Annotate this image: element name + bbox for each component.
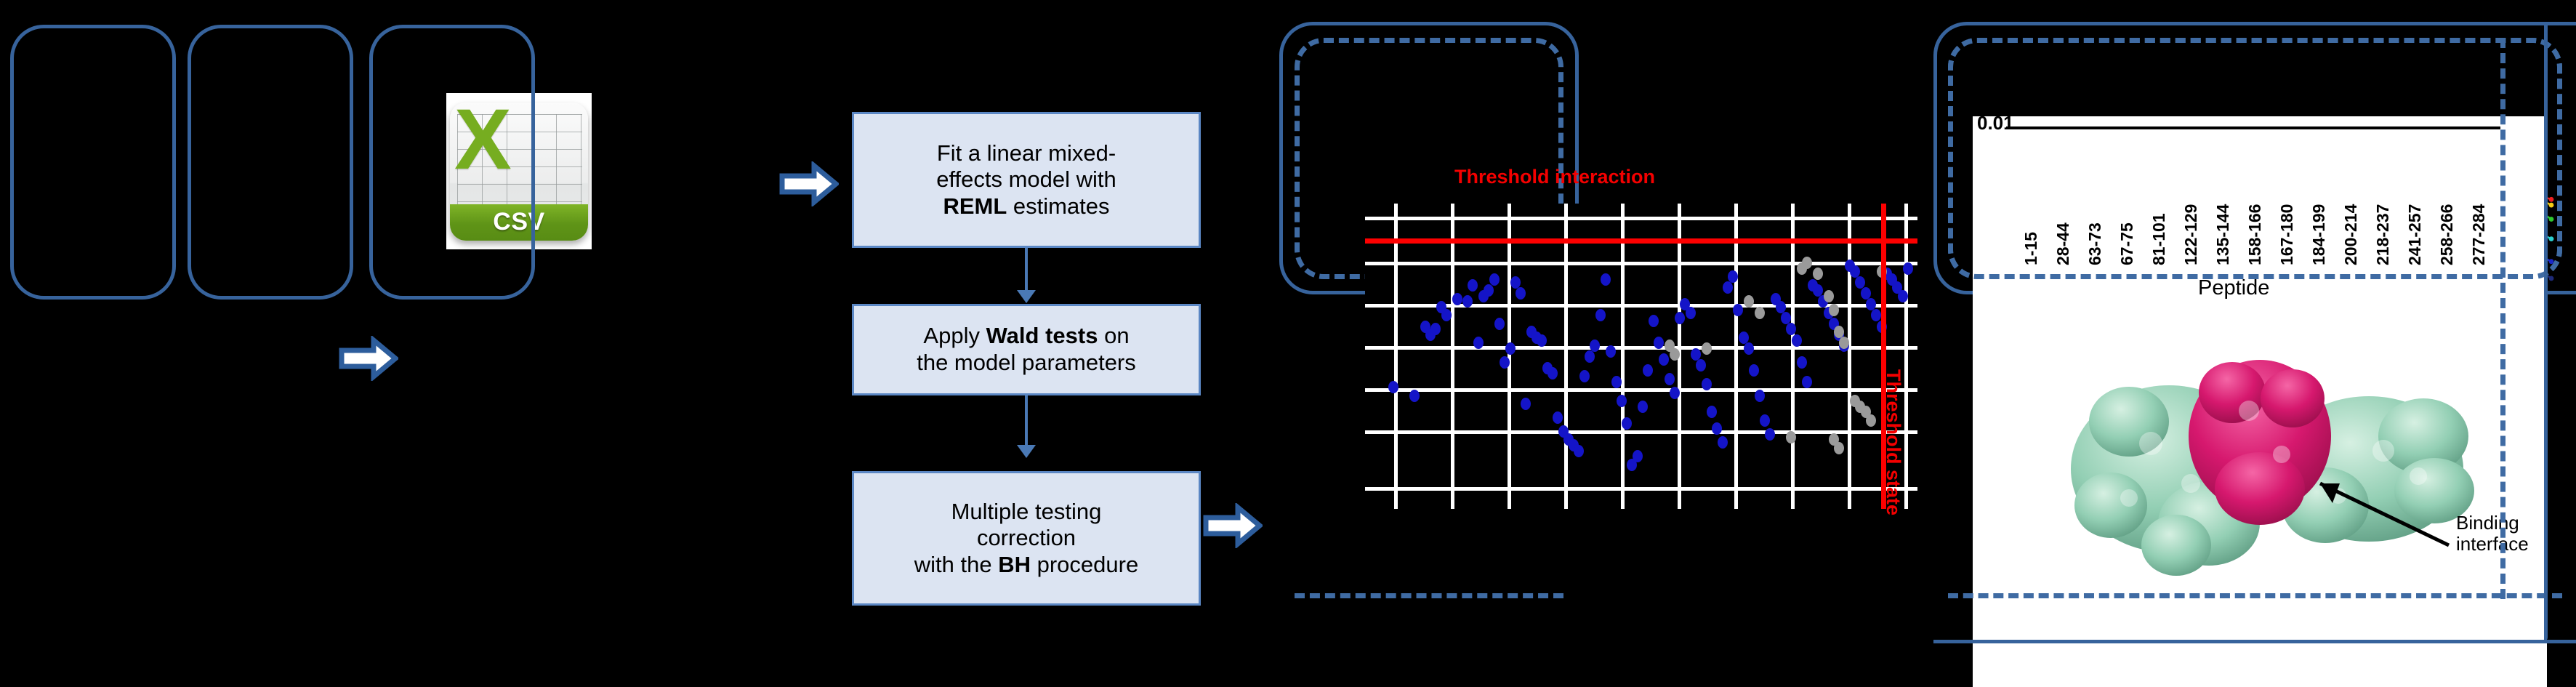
x-axis-tick <box>2143 129 2144 140</box>
x-axis-tick <box>2303 129 2304 140</box>
x-axis-tick <box>2239 129 2240 140</box>
gridline-v <box>1394 204 1398 509</box>
x-axis-tick <box>2399 129 2400 140</box>
x-axis-tick-label: 122-129 <box>2181 204 2201 265</box>
gridline-h <box>1365 346 1917 350</box>
scatter-point <box>1755 307 1765 319</box>
scatter-point <box>1792 334 1802 347</box>
scatter-point <box>1452 293 1462 305</box>
x-axis-tick-label: 28-44 <box>2053 222 2073 265</box>
peptide-panel-dashed-right <box>2500 38 2505 599</box>
scatter-point <box>1871 309 1881 321</box>
input-panel <box>10 25 176 300</box>
step-wald-text: Apply Wald tests onthe model parameters <box>917 323 1136 376</box>
scatter-point <box>1585 350 1595 363</box>
connector-1 <box>1025 248 1028 296</box>
scatter-point <box>1866 414 1876 427</box>
x-axis-tick <box>2431 129 2432 140</box>
x-axis-tick-label: 277-284 <box>2469 204 2489 265</box>
x-axis-tick-label: 158-166 <box>2245 204 2265 265</box>
step-model-text: Fit a linear mixed-effects model withREM… <box>936 140 1116 220</box>
reml-term: REML <box>943 193 1007 219</box>
step-bh-box: Multiple testingcorrectionwith the BH pr… <box>852 471 1201 606</box>
x-axis-tick <box>2335 129 2336 140</box>
x-axis-tick-label: 67-75 <box>2117 222 2137 265</box>
scatter-point <box>1601 273 1611 286</box>
connector-1-arrowhead <box>1017 290 1036 303</box>
scatter-point <box>1579 370 1590 382</box>
step-wald-box: Apply Wald tests onthe model parameters <box>852 304 1201 395</box>
x-axis-tick <box>2255 129 2256 140</box>
scatter-point <box>1553 411 1563 424</box>
step-bh-text: Multiple testingcorrectionwith the BH pr… <box>914 499 1138 579</box>
x-axis-tick-label: 135-144 <box>2213 204 2233 265</box>
peptide-point <box>2549 276 2554 281</box>
x-axis-tick <box>2351 129 2352 140</box>
x-axis-tick-label: 184-199 <box>2309 204 2329 265</box>
scatter-point <box>1547 367 1558 379</box>
x-axis-tick-label: 167-180 <box>2277 204 2297 265</box>
gridline-v <box>1564 204 1568 509</box>
arrow-data-to-analysis <box>779 161 839 206</box>
scatter-point <box>1903 262 1913 275</box>
scatter-point <box>1802 376 1812 388</box>
scatter-point <box>1633 450 1643 462</box>
scatter-point <box>1638 401 1648 413</box>
threshold-interaction-line <box>1365 238 1917 244</box>
scatter-plot-area <box>1365 204 1917 509</box>
x-axis-tick-label: 63-73 <box>2085 222 2105 265</box>
gridline-v <box>1508 204 1511 509</box>
scatter-point <box>1473 337 1484 349</box>
scatter-point <box>1484 284 1494 297</box>
callout-line-1: Binding <box>2456 513 2529 534</box>
scatter-point <box>1505 342 1516 355</box>
x-axis-tick <box>2063 129 2064 140</box>
x-axis-tick <box>2447 129 2448 140</box>
x-axis-tick <box>2191 129 2192 140</box>
x-axis-tick <box>2127 129 2128 140</box>
gridline-h <box>1365 262 1917 265</box>
peptide-bottom-card: 0.01 1-1528-4463-7367-7581-101122-129135… <box>1973 116 2547 687</box>
x-axis-tick-label: 1-15 <box>2021 232 2041 265</box>
scatter-point <box>1702 342 1712 355</box>
x-axis-tick <box>2095 129 2096 140</box>
step-model-box: Fit a linear mixed-effects model withREM… <box>852 112 1201 248</box>
x-axis-tick <box>2159 129 2160 140</box>
slide-canvas: X CSV Fit a linear mixed-effects model w… <box>0 0 2576 687</box>
scatter-point <box>1797 356 1807 369</box>
scatter-point <box>1665 373 1675 385</box>
gridline-h <box>1365 487 1917 491</box>
scatter-point <box>1898 290 1908 302</box>
scatter-point <box>1733 304 1743 316</box>
x-axis-tick <box>2175 129 2176 140</box>
gridline-v <box>1904 204 1908 509</box>
wald-term: Wald tests <box>986 323 1098 348</box>
scatter-point <box>1723 281 1733 294</box>
x-axis-tick <box>2383 129 2384 140</box>
peptide-point <box>2549 197 2554 202</box>
scatter-point <box>1521 398 1531 410</box>
gridline-v <box>1848 204 1851 509</box>
scatter-point <box>1537 334 1547 347</box>
scatter-point <box>1829 304 1839 316</box>
y-axis-value: 0.01 <box>1977 116 2014 134</box>
scatter-point <box>1786 431 1796 443</box>
x-axis-tick <box>2111 129 2112 140</box>
bh-term: BH <box>998 552 1031 577</box>
threshold-scatter-chart: Threshold interaction Thre <box>1349 151 1931 544</box>
scatter-point <box>1834 442 1844 454</box>
scatter-point <box>1388 381 1398 393</box>
scatter-point <box>1702 378 1712 390</box>
peptide-point <box>2549 236 2554 241</box>
x-axis-tick-label: 258-266 <box>2437 204 2457 265</box>
peptide-panel-solid-bottom <box>1933 640 2576 643</box>
scatter-point <box>1643 364 1653 377</box>
x-axis-tick-label: 241-257 <box>2405 204 2425 265</box>
scatter-point <box>1670 387 1680 399</box>
x-axis-tick <box>2271 129 2272 140</box>
x-axis-line <box>2006 126 2500 129</box>
scatter-point <box>1749 364 1759 377</box>
peptide-point <box>2549 203 2554 208</box>
scatter-point <box>1691 348 1701 361</box>
x-axis-tick <box>2463 129 2464 140</box>
gridline-v <box>1734 204 1738 509</box>
scatter-point <box>1409 390 1420 402</box>
peptide-panel-solid-right <box>2544 22 2548 641</box>
x-axis-tick-label: 218-237 <box>2373 204 2393 265</box>
scatter-point <box>1824 290 1834 302</box>
scatter-point <box>1494 318 1505 330</box>
peptide-point <box>2549 217 2554 222</box>
x-axis-tick <box>2319 129 2320 140</box>
scatter-point <box>1718 436 1728 449</box>
scatter-point <box>1595 309 1606 321</box>
scatter-point <box>1659 353 1669 366</box>
scatter-point <box>1489 273 1500 286</box>
arrow-analysis-to-results <box>1203 503 1263 548</box>
scatter-panel-dashed-bottom <box>1295 593 1563 598</box>
x-axis-tick-label: 81-101 <box>2149 213 2169 265</box>
scatter-point <box>1765 428 1775 441</box>
x-axis-tick <box>2031 129 2032 140</box>
scatter-point <box>1744 342 1754 355</box>
arrow-input-to-data <box>339 336 398 381</box>
scatter-point <box>1606 345 1616 358</box>
gridline-v <box>1791 204 1795 509</box>
scatter-point <box>1755 390 1765 402</box>
scatter-point <box>1574 445 1584 457</box>
x-axis-tick-label: 200-214 <box>2341 204 2361 265</box>
threshold-state-label: Threshold state <box>1882 369 1904 515</box>
scatter-point <box>1786 323 1796 335</box>
x-axis-tick <box>2415 129 2416 140</box>
peptide-panel-dashed-bottom <box>1948 593 2562 598</box>
scatter-point <box>1850 265 1860 278</box>
scatter-point <box>1813 268 1823 280</box>
scatter-point <box>1707 406 1717 418</box>
scatter-point <box>1686 307 1696 319</box>
scatter-point <box>1441 309 1452 321</box>
scatter-point <box>1590 340 1600 352</box>
x-axis-tick <box>2287 129 2288 140</box>
x-axis-title: Peptide <box>2198 276 2269 300</box>
x-axis-tick <box>2223 129 2224 140</box>
scatter-point <box>1617 395 1627 407</box>
gridline-v <box>1621 204 1625 509</box>
scatter-point <box>1670 348 1680 361</box>
callout-line-2: interface <box>2456 534 2529 555</box>
protein-structure-image <box>2042 305 2507 611</box>
gridline-v <box>1451 204 1454 509</box>
x-axis-tick <box>2367 129 2368 140</box>
scatter-point <box>1516 287 1526 300</box>
x-axis-tick <box>2207 129 2208 140</box>
x-axis-tick <box>2047 129 2048 140</box>
threshold-interaction-label: Threshold interaction <box>1454 166 1655 188</box>
scatter-point <box>1622 417 1632 430</box>
scatter-point <box>1855 276 1865 289</box>
scatter-point <box>1611 376 1622 388</box>
gridline-h <box>1365 388 1917 392</box>
scatter-point <box>1675 312 1685 324</box>
scatter-point <box>1802 257 1812 269</box>
gridline-h <box>1365 217 1917 220</box>
x-axis-tick <box>2015 129 2016 140</box>
scatter-point <box>1649 315 1659 327</box>
scatter-point <box>1760 414 1770 427</box>
scatter-point <box>1430 323 1441 335</box>
connector-2-arrowhead <box>1017 445 1036 458</box>
binding-interface-callout: Binding interface <box>2456 513 2529 555</box>
scatter-point <box>1696 359 1706 371</box>
analysis-panel <box>369 25 535 300</box>
x-axis-tick <box>2079 129 2080 140</box>
peptide-point <box>2549 259 2554 264</box>
connector-2 <box>1025 395 1028 451</box>
scatter-point <box>1468 279 1478 292</box>
data-panel <box>188 25 353 300</box>
